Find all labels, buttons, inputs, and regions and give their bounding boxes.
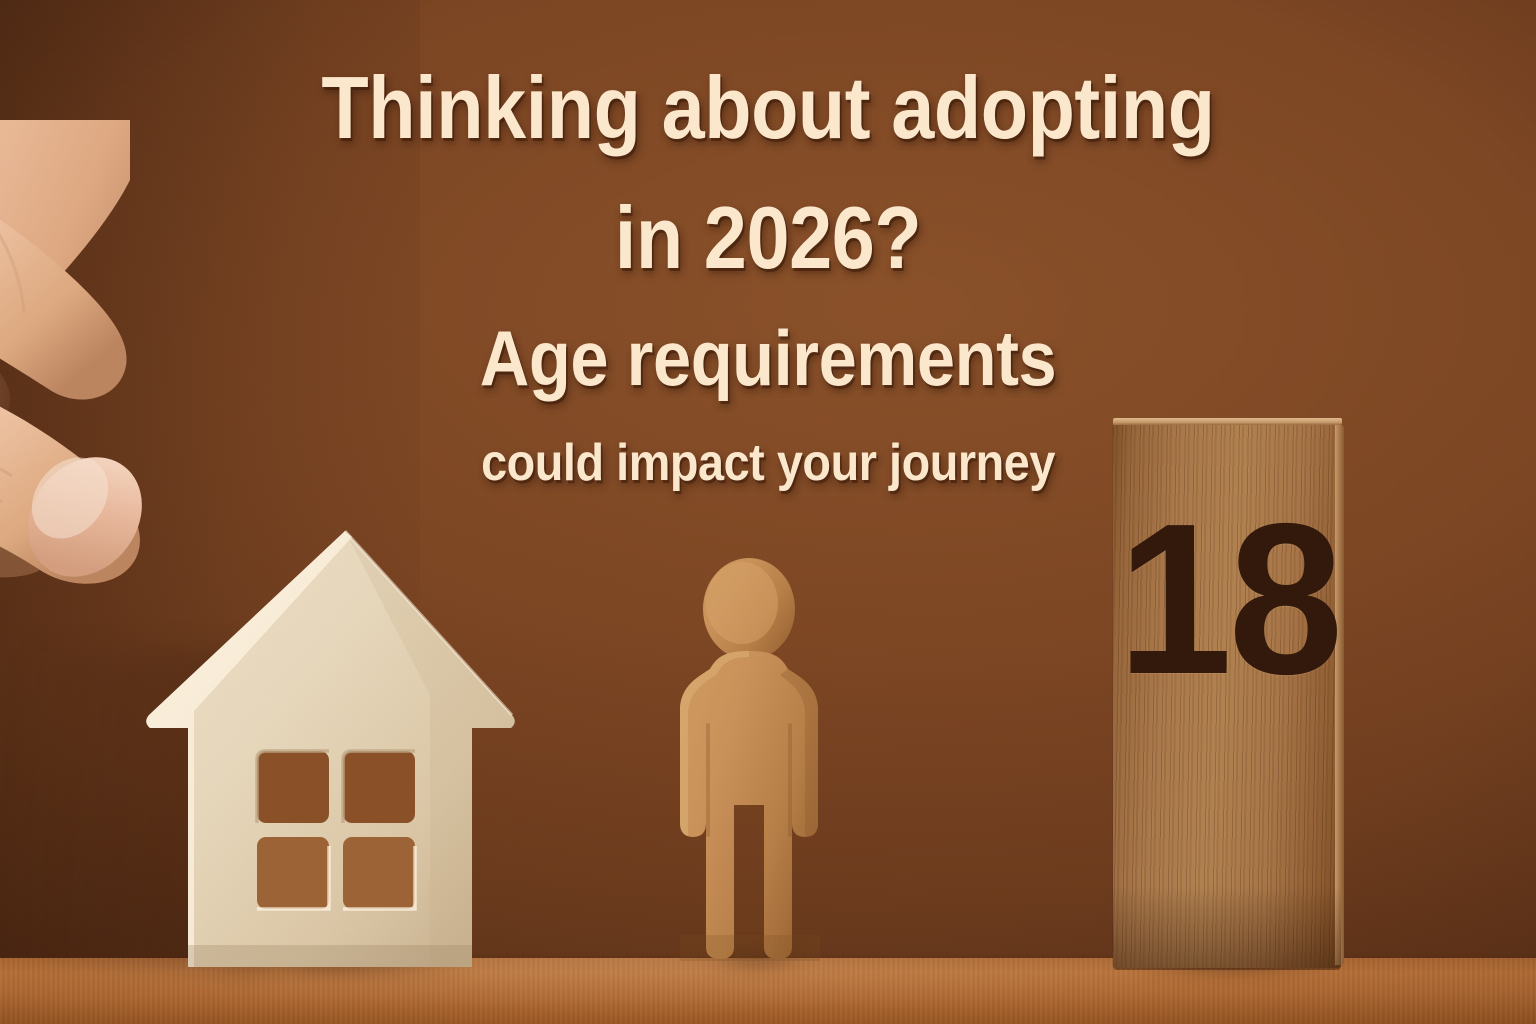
block-top-edge: [1113, 418, 1342, 425]
person-icon: [650, 555, 860, 970]
block-number-label: 18: [1118, 491, 1337, 706]
block-bottom-shading: [1113, 885, 1341, 970]
house-icon: [140, 515, 540, 975]
number-block: 18: [1095, 405, 1365, 980]
banner-image: 18 Thinking about adopting in 2026? Age …: [0, 0, 1536, 1024]
